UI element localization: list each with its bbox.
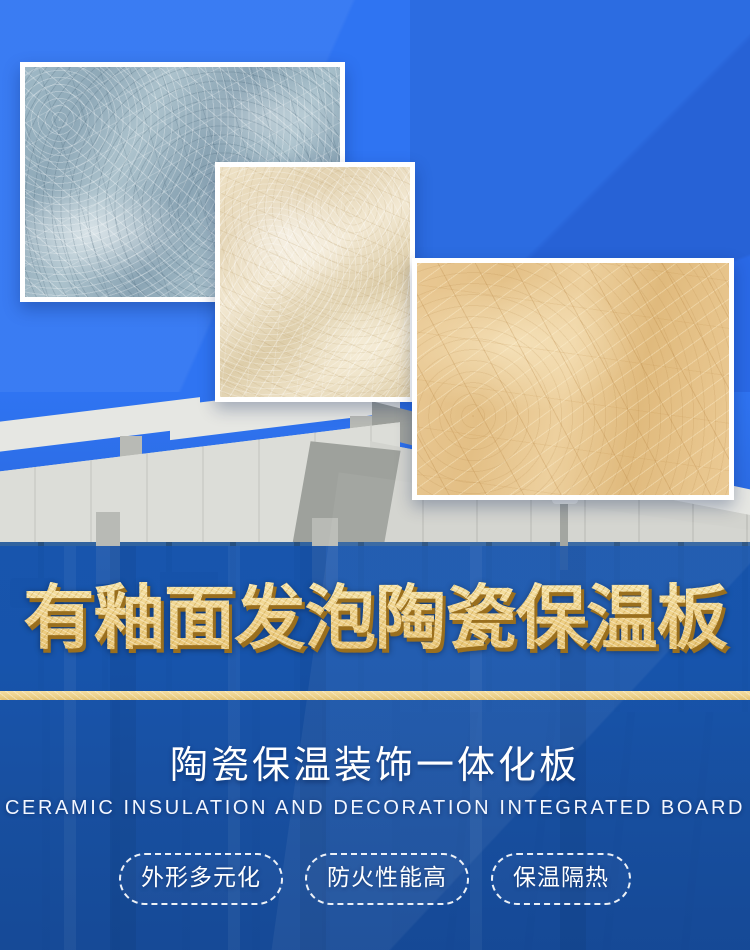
page-title: 有釉面发泡陶瓷保温板 (0, 582, 750, 654)
tile-speckle-pattern (220, 167, 410, 397)
feature-tag[interactable]: 防火性能高 (305, 853, 469, 905)
feature-tag-list: 外形多元化 防火性能高 保温隔热 (0, 853, 750, 905)
sample-tile-3[interactable] (412, 258, 734, 500)
feature-tag[interactable]: 保温隔热 (491, 853, 631, 905)
subtitle-english: CERAMIC INSULATION AND DECORATION INTEGR… (0, 795, 750, 821)
subtitle-chinese: 陶瓷保温装饰一体化板 (0, 742, 750, 788)
sample-tile-2[interactable] (215, 162, 415, 402)
tile-speckle-pattern (417, 263, 729, 495)
feature-tag[interactable]: 外形多元化 (119, 853, 283, 905)
gold-divider (0, 691, 750, 700)
product-poster: 有釉面发泡陶瓷保温板 陶瓷保温装饰一体化板 CERAMIC INSULATION… (0, 0, 750, 950)
